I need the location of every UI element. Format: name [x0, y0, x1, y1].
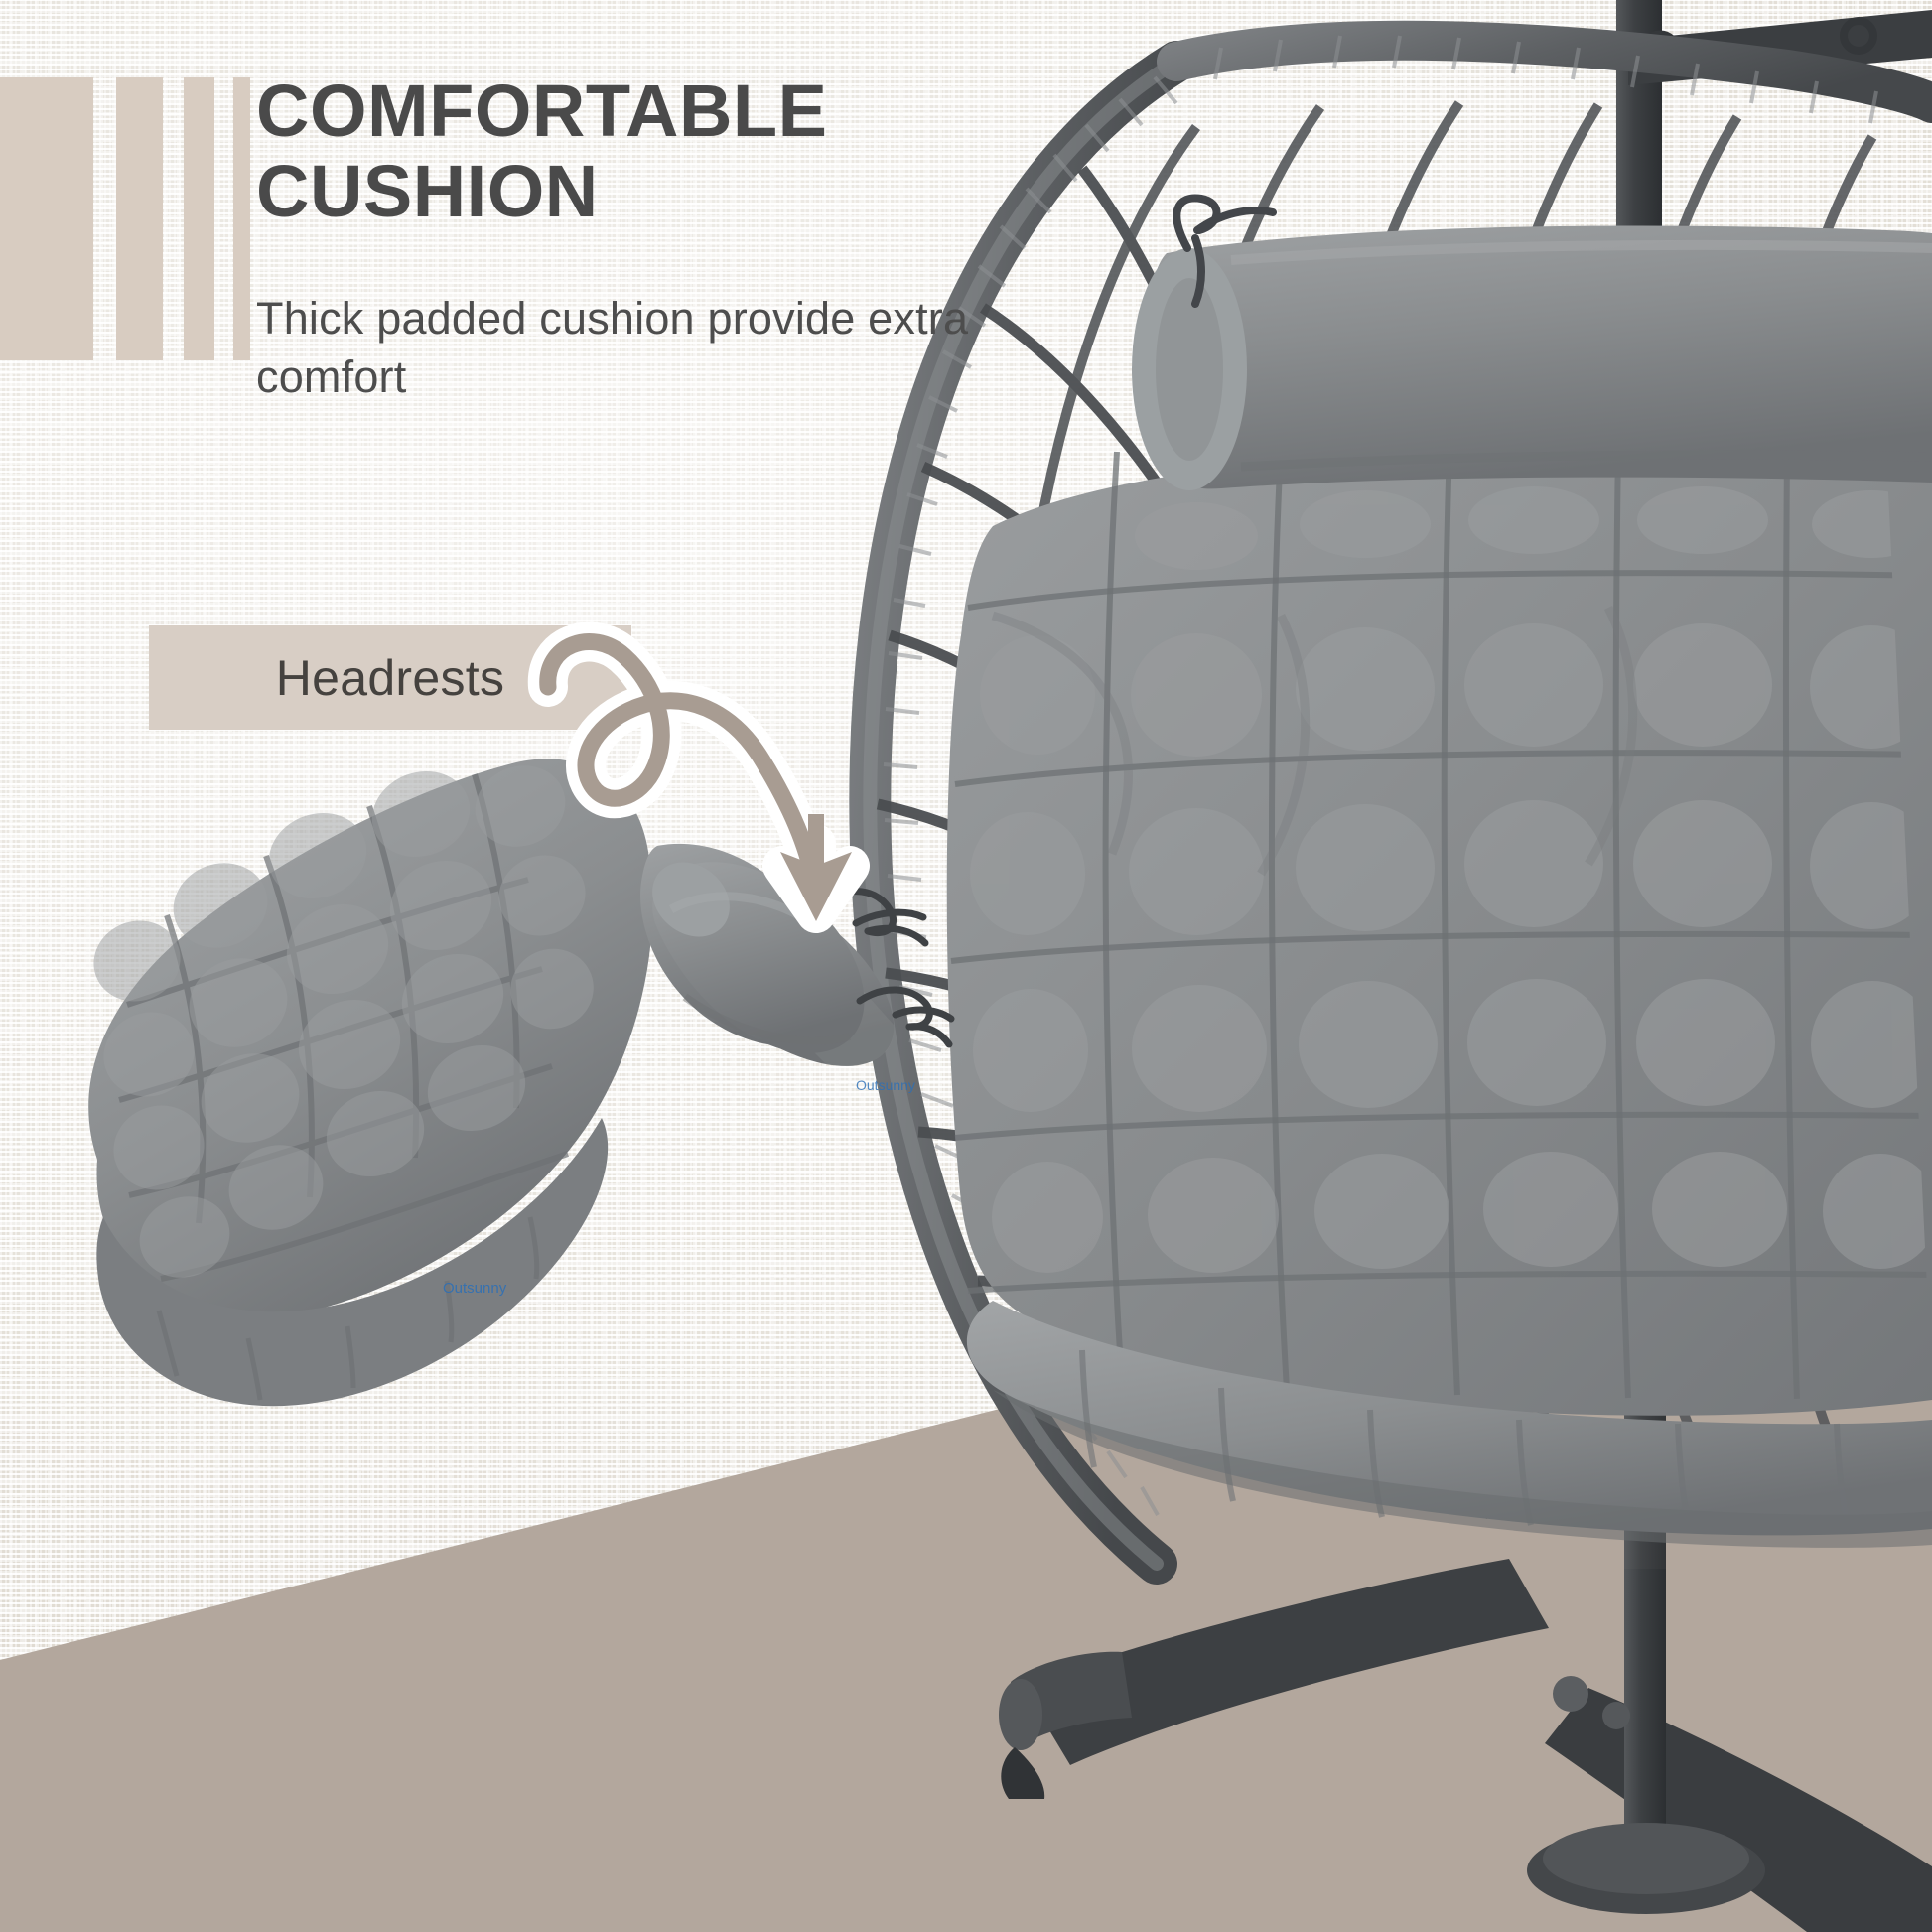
decorative-bar-group [0, 77, 250, 360]
decor-bar-1 [0, 77, 93, 360]
svg-text:Outsunny: Outsunny [443, 1280, 507, 1297]
product-feature-banner: Outsunny [0, 0, 1932, 1932]
svg-text:Outsunny: Outsunny [856, 1077, 915, 1093]
title-line-2: CUSHION [256, 152, 1150, 232]
title-line-1: COMFORTABLE [256, 71, 1150, 152]
page-title: COMFORTABLE CUSHION [256, 71, 1150, 231]
curly-down-arrow-icon [496, 516, 913, 933]
subtitle-text: Thick padded cushion provide extra comfo… [256, 290, 1050, 406]
decor-bar-2 [116, 77, 163, 360]
decor-bar-3 [184, 77, 214, 360]
decor-bar-4 [233, 77, 250, 360]
headrests-callout-label: Headrests [276, 649, 505, 707]
